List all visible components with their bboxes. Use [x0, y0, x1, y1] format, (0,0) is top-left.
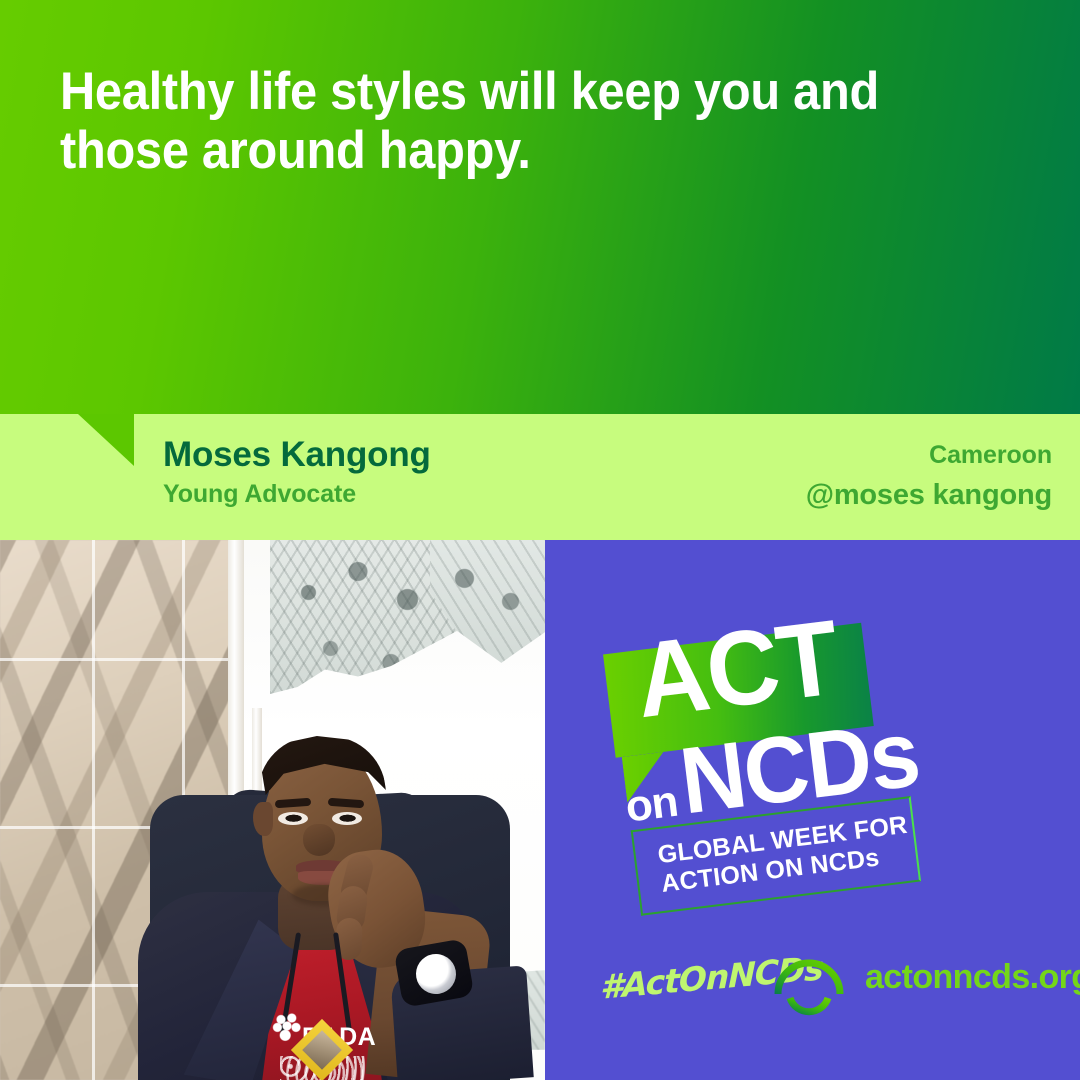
person-eye-left [278, 812, 308, 825]
act-on-ncds-logo: ACT on NCDs GLOBAL WEEK FOR ACTION ON NC… [601, 601, 919, 884]
speaker-role: Young Advocate [163, 479, 431, 509]
speaker-meta: Cameroon @moses kangong [806, 440, 1052, 514]
tile-grout-line [92, 540, 95, 1080]
speaker-name: Moses Kangong [163, 434, 431, 475]
social-media-card: Healthy life styles will keep you and th… [0, 0, 1080, 1080]
footer-bar: #ActOnNCDs actonncds.org [545, 940, 1080, 1030]
logo-on-text: on [623, 782, 680, 832]
speaker-photo: RADA [0, 540, 545, 1080]
speaker-country: Cameroon [806, 440, 1052, 471]
quote-text: Healthy life styles will keep you and th… [60, 62, 934, 181]
speaker-identity: Moses Kangong Young Advocate [163, 434, 431, 509]
person-eye-right [332, 812, 362, 825]
speaker-handle: @moses kangong [806, 477, 1052, 513]
person-ear [253, 802, 273, 836]
quote-banner: Healthy life styles will keep you and th… [0, 0, 1080, 414]
website-url[interactable]: actonncds.org [865, 958, 1080, 997]
open-circle-icon [773, 950, 845, 1022]
person-nose [303, 824, 335, 856]
